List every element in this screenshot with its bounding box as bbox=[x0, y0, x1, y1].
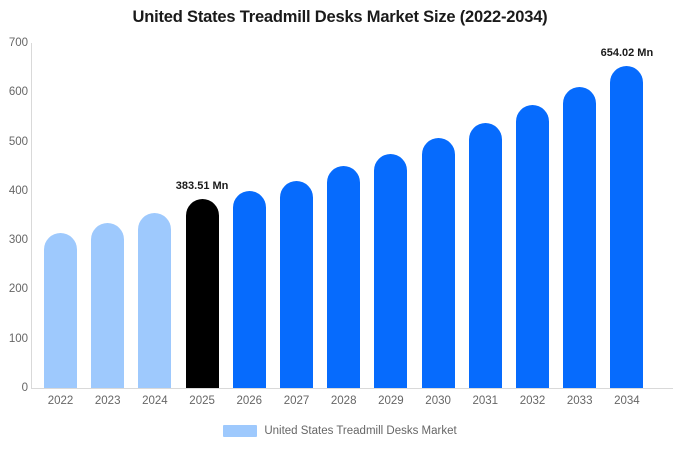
y-axis-tick-label: 300 bbox=[2, 234, 28, 246]
bar-rect[interactable] bbox=[610, 66, 643, 388]
bar-2030[interactable] bbox=[422, 43, 455, 388]
bar-2024[interactable] bbox=[138, 43, 171, 388]
chart-title: United States Treadmill Desks Market Siz… bbox=[0, 8, 680, 27]
legend-swatch-icon bbox=[223, 425, 257, 437]
bar-rect[interactable] bbox=[327, 166, 360, 388]
x-axis-line bbox=[31, 388, 673, 389]
y-axis-tick-label: 100 bbox=[2, 333, 28, 345]
bar-2025[interactable] bbox=[186, 43, 219, 388]
bar-rect[interactable] bbox=[469, 123, 502, 388]
bar-2022[interactable] bbox=[44, 43, 77, 388]
bar-rect[interactable] bbox=[563, 87, 596, 388]
bar-2029[interactable] bbox=[374, 43, 407, 388]
bar-rect[interactable] bbox=[516, 105, 549, 388]
bar-rect[interactable] bbox=[91, 223, 124, 388]
legend-label: United States Treadmill Desks Market bbox=[264, 425, 456, 437]
bar-2031[interactable] bbox=[469, 43, 502, 388]
bar-2027[interactable] bbox=[280, 43, 313, 388]
bar-2032[interactable] bbox=[516, 43, 549, 388]
bar-value-label-2025: 383.51 Mn bbox=[176, 180, 229, 192]
y-axis-tick-label: 200 bbox=[2, 283, 28, 295]
bar-rect[interactable] bbox=[374, 154, 407, 388]
y-axis-tick-label: 600 bbox=[2, 86, 28, 98]
chart-container: United States Treadmill Desks Market Siz… bbox=[0, 0, 680, 450]
y-axis-tick-label: 0 bbox=[2, 382, 28, 394]
bar-2034[interactable] bbox=[610, 43, 643, 388]
bar-value-label-2034: 654.02 Mn bbox=[601, 47, 654, 59]
bar-rect[interactable] bbox=[138, 213, 171, 388]
chart-legend[interactable]: United States Treadmill Desks Market bbox=[0, 425, 680, 437]
bar-rect[interactable] bbox=[186, 199, 219, 388]
x-axis-tick-label: 2034 bbox=[599, 395, 655, 407]
y-axis-tick-labels: 0100200300400500600700 bbox=[0, 43, 28, 388]
bar-2023[interactable] bbox=[91, 43, 124, 388]
bar-rect[interactable] bbox=[422, 138, 455, 388]
bar-rect[interactable] bbox=[280, 181, 313, 388]
bar-2033[interactable] bbox=[563, 43, 596, 388]
bar-rect[interactable] bbox=[44, 233, 77, 388]
y-axis-tick-label: 400 bbox=[2, 185, 28, 197]
y-axis-tick-label: 500 bbox=[2, 136, 28, 148]
bar-rect[interactable] bbox=[233, 191, 266, 388]
plot-area bbox=[31, 43, 673, 388]
bar-2026[interactable] bbox=[233, 43, 266, 388]
bar-2028[interactable] bbox=[327, 43, 360, 388]
y-axis-tick-label: 700 bbox=[2, 37, 28, 49]
